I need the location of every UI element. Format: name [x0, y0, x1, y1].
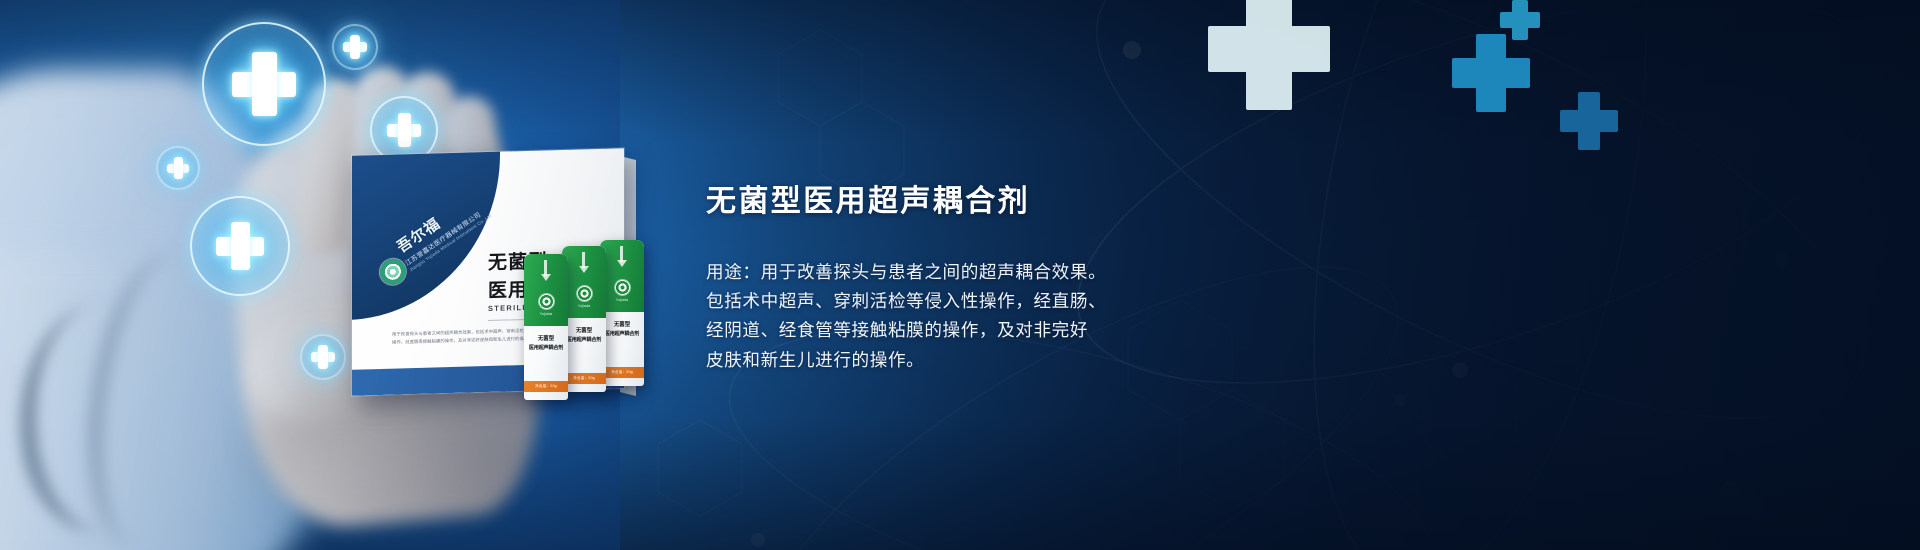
sachet-green-cap: Yujiada [524, 254, 568, 326]
solid-cross-far-right [1452, 34, 1530, 112]
sachet-label-line1: 无菌型 [600, 320, 644, 328]
sachet-logo-icon [539, 294, 554, 309]
sachet-band-text: 净含量：20g [600, 367, 644, 378]
product-banner: 吾尔福 江苏誉嘉达医疗器械有限公司 Jiangsu Yujiada Medica… [0, 0, 1920, 550]
sachet-brand: Yujiada [605, 298, 639, 302]
sachet-label-line2: 医用超声耦合剂 [524, 344, 568, 351]
sachet-green-cap: Yujiada [562, 246, 606, 318]
sachet-group: Yujiada无菌型医用超声耦合剂净含量：20gYujiada无菌型医用超声耦合… [524, 240, 674, 400]
medical-cross-icon [387, 113, 421, 147]
solid-cross-edge [1560, 92, 1618, 150]
sachet-label-line2: 医用超声耦合剂 [562, 336, 606, 343]
cross-badge-small-top [332, 24, 378, 70]
solid-cross-corner [1500, 0, 1540, 40]
sachet-band-text: 净含量：20g [562, 373, 606, 384]
cross-badge-tiny-left [156, 146, 200, 190]
sachet-2: Yujiada无菌型医用超声耦合剂净含量：20g [562, 246, 606, 392]
description-line-2: 包括术中超声、穿刺活检等侵入性操作，经直肠、 [706, 287, 1266, 316]
sachet-label-line1: 无菌型 [562, 326, 606, 334]
tear-arrow-icon [544, 260, 547, 276]
cross-badge-large [202, 22, 326, 146]
cross-badge-lower [190, 196, 290, 296]
description-line-4: 皮肤和新生儿进行的操作。 [706, 346, 1266, 375]
sachet-band-text: 净含量：20g [524, 381, 568, 392]
tear-arrow-icon [582, 252, 585, 268]
sachet-orange-band: 净含量：20g [600, 367, 644, 378]
banner-copy: 无菌型医用超声耦合剂 用途：用于改善探头与患者之间的超声耦合效果。包括术中超声、… [706, 176, 1266, 375]
page-title: 无菌型医用超声耦合剂 [706, 176, 1266, 220]
sachet-brand: Yujiada [567, 304, 601, 308]
sachet-1: Yujiada无菌型医用超声耦合剂净含量：20g [524, 254, 568, 400]
sachet-orange-band: 净含量：20g [524, 381, 568, 392]
tear-arrow-icon [620, 246, 623, 262]
sachet-brand: Yujiada [529, 312, 563, 316]
medical-cross-icon [216, 222, 264, 270]
sachet-label-line2: 医用超声耦合剂 [600, 330, 644, 337]
sachet-label-line1: 无菌型 [524, 334, 568, 342]
medical-cross-icon [232, 52, 296, 116]
sachet-3: Yujiada无菌型医用超声耦合剂净含量：20g [600, 240, 644, 386]
description-line-3: 经阴道、经食管等接触粘膜的操作，及对非完好 [706, 316, 1266, 345]
medical-cross-icon [343, 35, 367, 59]
cross-badge-bottom [300, 334, 346, 380]
sachet-logo-icon [615, 280, 630, 295]
medical-cross-icon [311, 345, 335, 369]
sachet-orange-band: 净含量：20g [562, 373, 606, 384]
medical-cross-icon [167, 157, 189, 179]
description-paragraph: 用途：用于改善探头与患者之间的超声耦合效果。包括术中超声、穿刺活检等侵入性操作，… [706, 258, 1266, 375]
solid-cross-top-right [1208, 0, 1330, 110]
sachet-green-cap: Yujiada [600, 240, 644, 312]
sachet-logo-icon [577, 286, 592, 301]
description-line-1: 用途：用于改善探头与患者之间的超声耦合效果。 [706, 258, 1266, 287]
